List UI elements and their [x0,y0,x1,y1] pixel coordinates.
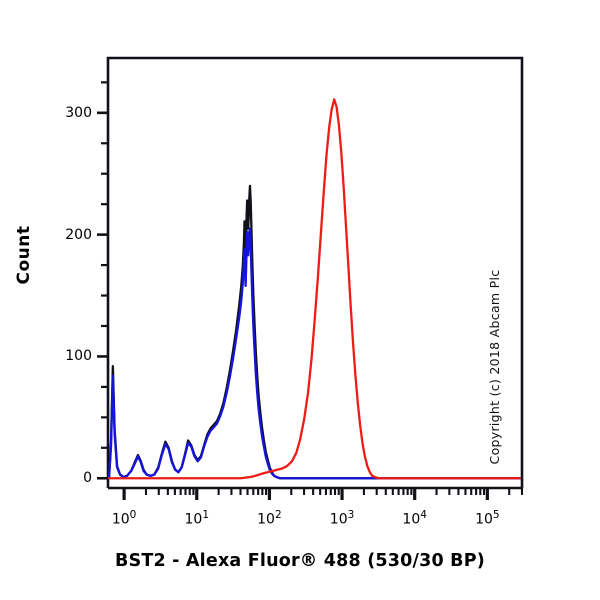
y-tick-label: 100 [48,348,92,364]
histogram-plot [0,0,600,600]
y-axis-label: Count [14,195,34,315]
x-tick-label: 101 [184,509,209,528]
x-tick-label: 100 [112,509,137,528]
y-tick-label: 300 [48,105,92,121]
y-axis-ticks [97,82,108,478]
series-bst2-stained [109,99,520,478]
x-axis-ticks [124,488,522,500]
x-tick-label: 104 [402,509,427,528]
y-tick-label: 0 [48,470,92,486]
series-isotype-control [109,229,520,479]
x-tick-label: 105 [475,509,500,528]
flow-cytometry-figure: Count BST2 - Alexa Fluor® 488 (530/30 BP… [0,0,600,600]
x-tick-label: 102 [257,509,282,528]
x-axis-label: BST2 - Alexa Fluor® 488 (530/30 BP) [0,551,600,571]
copyright-notice: Copyright (c) 2018 Abcam Plc [487,222,502,512]
y-tick-label: 200 [48,227,92,243]
plot-frame [108,58,522,488]
x-tick-label: 103 [330,509,355,528]
